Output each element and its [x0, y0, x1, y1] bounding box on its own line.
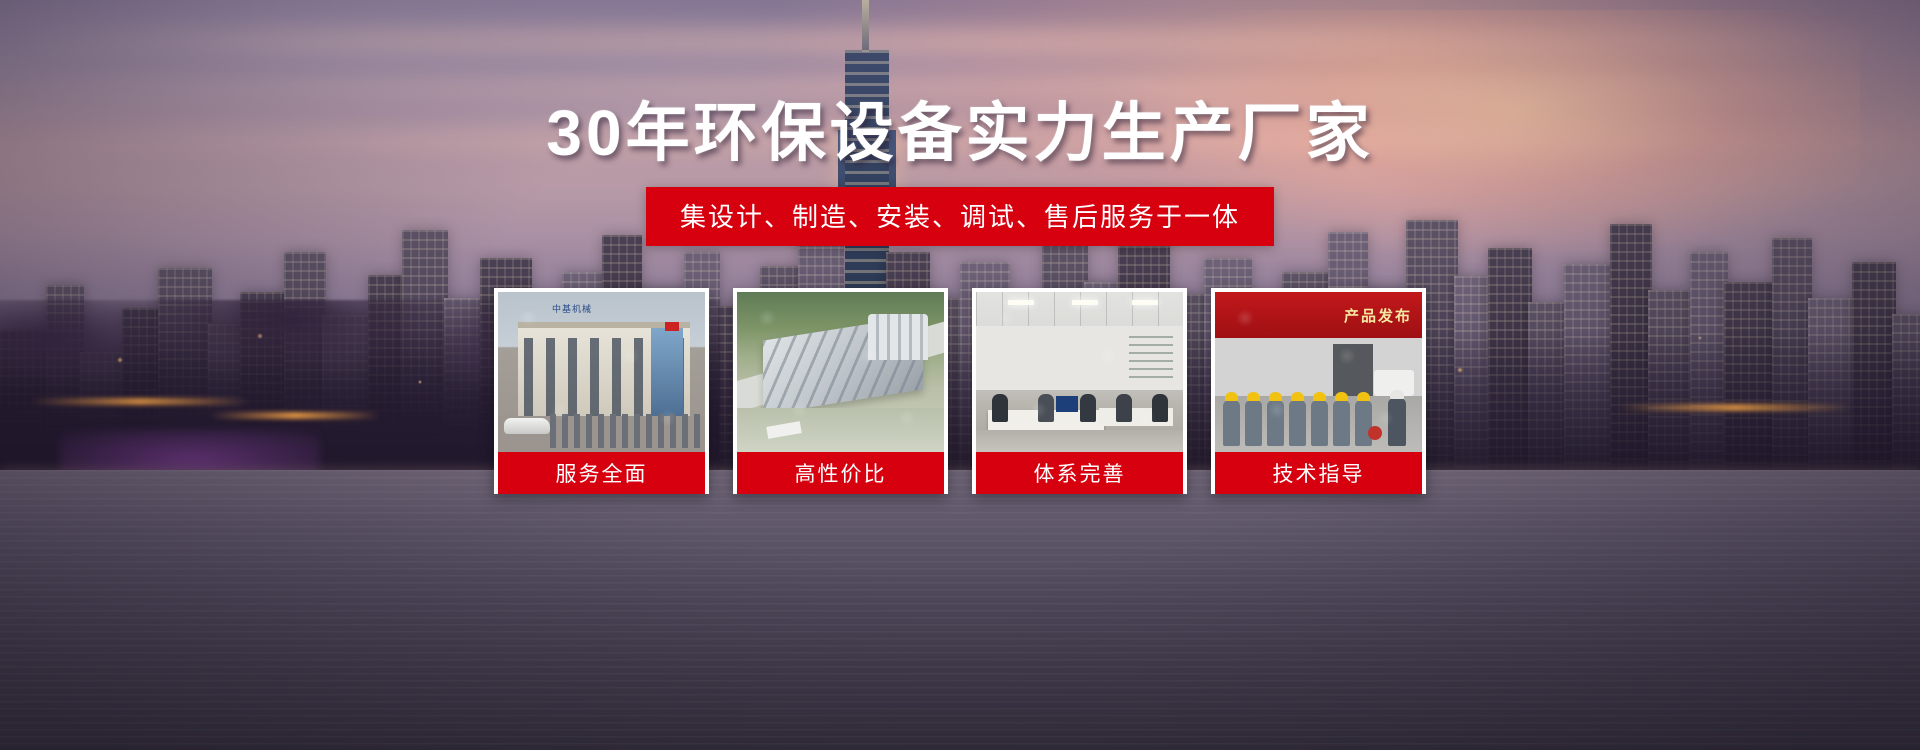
- car-shape: [504, 418, 550, 434]
- ceiling-lamp: [1072, 300, 1098, 305]
- worker-figure: [1267, 400, 1284, 446]
- page-title: 30年环保设备实力生产厂家: [546, 100, 1373, 167]
- feature-card[interactable]: 体系完善: [972, 288, 1187, 494]
- feature-card-label: 体系完善: [976, 452, 1183, 494]
- monitor-shape: [1056, 396, 1078, 412]
- person-figure: [992, 394, 1008, 422]
- feature-card-list: 中基机械 服务全面 高性价比: [494, 288, 1426, 494]
- staff-row: [550, 414, 700, 448]
- person-figure: [1080, 394, 1096, 422]
- office-meeting-room-photo: [976, 292, 1183, 452]
- person-figure: [1038, 394, 1054, 422]
- hero-banner: 30年环保设备实力生产厂家 集设计、制造、安装、调试、售后服务于一体 中基机械 …: [0, 0, 1920, 750]
- company-office-building-photo: 中基机械: [498, 292, 705, 452]
- factory-workers-training-photo: 产品发布: [1215, 292, 1422, 452]
- feature-card[interactable]: 中基机械 服务全面: [494, 288, 709, 494]
- feature-card-label: 技术指导: [1215, 452, 1422, 494]
- person-figure: [1152, 394, 1168, 422]
- worker-figure: [1223, 400, 1240, 446]
- feature-card-label: 服务全面: [498, 452, 705, 494]
- feature-card[interactable]: 高性价比: [733, 288, 948, 494]
- office-window: [1129, 336, 1173, 378]
- subtitle-badge: 集设计、制造、安装、调试、售后服务于一体: [646, 187, 1274, 246]
- person-figure: [1116, 394, 1132, 422]
- building-sign-text: 中基机械: [552, 302, 592, 315]
- office-floor: [976, 430, 1183, 452]
- ceiling-panel: [976, 292, 1183, 326]
- worker-figure: [1333, 400, 1350, 446]
- worker-figure: [1355, 400, 1372, 446]
- silo-tanks: [868, 314, 928, 360]
- aerial-factory-plant-photo: [737, 292, 944, 452]
- instructor-figure: [1388, 398, 1406, 446]
- factory-banner-text: 产品发布: [1215, 292, 1422, 338]
- banner-content: 30年环保设备实力生产厂家 集设计、制造、安装、调试、售后服务于一体 中基机械 …: [0, 0, 1920, 750]
- glass-facade: [651, 328, 683, 416]
- ceiling-lamp: [1008, 300, 1034, 305]
- worker-figure: [1289, 400, 1306, 446]
- feature-card-label: 高性价比: [737, 452, 944, 494]
- factory-door: [1333, 344, 1373, 398]
- worker-figure: [1311, 400, 1328, 446]
- feature-card[interactable]: 产品发布 技术指导: [1211, 288, 1426, 494]
- ceiling-lamp: [1132, 300, 1158, 305]
- worker-figure: [1245, 400, 1262, 446]
- flag-icon: [665, 322, 679, 331]
